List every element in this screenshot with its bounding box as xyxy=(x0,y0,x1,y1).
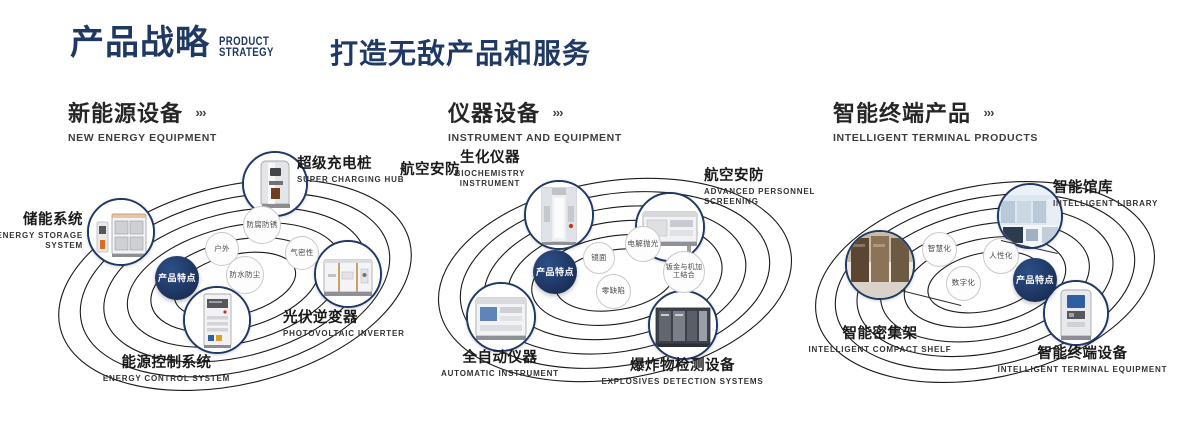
section-heading-new-energy: 新能源设备 ››› NEW ENERGY EQUIPMENT xyxy=(68,96,217,144)
compact-shelf-icon xyxy=(847,232,913,298)
caption-cn: 全自动仪器 xyxy=(415,350,585,367)
feature-bubble-digital[interactable]: 数字化 xyxy=(946,266,981,301)
page-title: 产品战略 PRODUCT STRATEGY xyxy=(70,26,287,60)
caption-en: ENERGY STORAGE SYSTEM xyxy=(0,231,83,251)
caption-explosives-detection-systems: 爆炸物检测设备 EXPLOSIVES DETECTION SYSTEMS xyxy=(600,358,765,387)
section-heading-intelligent-terminal: 智能终端产品 ››› INTELLIGENT TERMINAL PRODUCTS xyxy=(833,96,1038,144)
kiosk-icon xyxy=(1045,282,1107,344)
caption-en: INTELLIGENT TERMINAL EQUIPMENT xyxy=(995,365,1170,375)
section-heading-instrument: 仪器设备 ››› INSTRUMENT AND EQUIPMENT xyxy=(448,96,622,144)
cluster-instrument: 航空安防 生化仪器 BIOCHEMISTRY INSTRUMENT 航空安防 A… xyxy=(420,150,820,410)
feature-bubble-sheetmetal-machining[interactable]: 钣金与机加工结合 xyxy=(663,251,705,293)
feature-bubble-waterproof-dustproof[interactable]: 防水防尘 xyxy=(226,256,264,294)
core-bubble-label: 产品特点 xyxy=(158,273,196,283)
node-photovoltaic-inverter[interactable] xyxy=(314,240,382,308)
caption-en: INTELLIGENT COMPACT SHELF xyxy=(800,345,960,355)
caption-en: INTELLIGENT LIBRARY xyxy=(1053,199,1183,209)
feature-label: 防腐防锈 xyxy=(246,221,277,229)
caption-intelligent-compact-shelf: 智能密集架 INTELLIGENT COMPACT SHELF xyxy=(800,326,960,355)
library-room-icon xyxy=(999,185,1061,247)
section-heading-en: INSTRUMENT AND EQUIPMENT xyxy=(448,132,622,144)
caption-en: AUTOMATIC INSTRUMENT xyxy=(415,369,585,379)
caption-intelligent-terminal-equipment: 智能终端设备 INTELLIGENT TERMINAL EQUIPMENT xyxy=(995,346,1170,375)
caption-photovoltaic-inverter: 光伏逆变器 PHOTOVOLTAIC INVERTER xyxy=(283,310,433,339)
caption-energy-control-system: 能源控制系统 ENERGY CONTROL SYSTEM xyxy=(79,355,254,384)
chevron-right-icon: ››› xyxy=(195,105,205,120)
caption-cn: 生化仪器 xyxy=(430,150,550,167)
feature-label: 智慧化 xyxy=(928,245,951,253)
control-cabinet-icon xyxy=(185,288,249,352)
chevron-right-icon: ››› xyxy=(983,105,993,120)
caption-en: BIOCHEMISTRY INSTRUMENT xyxy=(430,169,550,189)
caption-cn: 智能馆库 xyxy=(1053,180,1183,197)
feature-label: 防水防尘 xyxy=(229,271,260,279)
page-subtitle: 打造无敌产品和服务 xyxy=(330,32,591,72)
feature-bubble-smart[interactable]: 智慧化 xyxy=(922,232,957,267)
caption-en: PHOTOVOLTAIC INVERTER xyxy=(283,329,433,339)
detection-rack-icon xyxy=(650,292,716,358)
section-heading-en: INTELLIGENT TERMINAL PRODUCTS xyxy=(833,132,1038,144)
caption-energy-storage-system: 储能系统 ENERGY STORAGE SYSTEM xyxy=(0,212,83,251)
battery-cabinet-icon xyxy=(89,200,153,264)
node-intelligent-compact-shelf[interactable] xyxy=(845,230,915,300)
feature-label: 钣金与机加工结合 xyxy=(664,264,704,279)
core-bubble-label: 产品特点 xyxy=(536,267,574,277)
core-bubble-label: 产品特点 xyxy=(1016,275,1054,285)
product-strategy-infographic: 产品战略 PRODUCT STRATEGY 打造无敌产品和服务 新能源设备 ››… xyxy=(0,0,1200,422)
core-bubble-product-features[interactable]: 产品特点 xyxy=(533,250,577,294)
feature-label: 户外 xyxy=(214,245,230,253)
core-bubble-product-features[interactable]: 产品特点 xyxy=(155,256,199,300)
feature-bubble-mirror-finish[interactable]: 镜面 xyxy=(583,242,615,274)
analyzer-icon xyxy=(468,284,534,350)
feature-label: 气密性 xyxy=(290,249,313,257)
feature-bubble-airtight[interactable]: 气密性 xyxy=(285,236,319,270)
caption-cn: 能源控制系统 xyxy=(79,355,254,372)
caption-biochemistry-instrument: 生化仪器 BIOCHEMISTRY INSTRUMENT xyxy=(430,150,550,189)
section-heading-cn: 新能源设备 xyxy=(68,96,183,128)
node-energy-storage-system[interactable] xyxy=(87,198,155,266)
feature-label: 数字化 xyxy=(952,279,975,287)
caption-cn: 智能终端设备 xyxy=(995,346,1170,363)
feature-label: 人性化 xyxy=(989,252,1012,260)
cluster-new-energy: 储能系统 ENERGY STORAGE SYSTEM 超级充电桩 SUPER C… xyxy=(35,150,435,410)
feature-bubble-anticorrosion[interactable]: 防腐防锈 xyxy=(243,206,281,244)
feature-label: 电解抛光 xyxy=(627,240,658,248)
section-heading-cn: 仪器设备 xyxy=(448,96,540,128)
caption-en: ENERGY CONTROL SYSTEM xyxy=(79,374,254,384)
security-gate-icon xyxy=(526,182,592,248)
section-heading-en: NEW ENERGY EQUIPMENT xyxy=(68,132,217,144)
node-explosives-detection-systems[interactable] xyxy=(648,290,718,360)
chevron-right-icon: ››› xyxy=(552,105,562,120)
caption-automatic-instrument: 全自动仪器 AUTOMATIC INSTRUMENT xyxy=(415,350,585,379)
caption-cn: 光伏逆变器 xyxy=(283,310,433,327)
caption-cn: 爆炸物检测设备 xyxy=(600,358,765,375)
feature-label: 镜面 xyxy=(591,254,607,262)
caption-cn: 智能密集架 xyxy=(800,326,960,343)
caption-en: EXPLOSIVES DETECTION SYSTEMS xyxy=(600,377,765,387)
inverter-cabinet-icon xyxy=(316,242,380,306)
page-title-en-line2: STRATEGY xyxy=(219,47,274,58)
caption-cn: 储能系统 xyxy=(0,212,83,229)
section-heading-cn: 智能终端产品 xyxy=(833,96,971,128)
page-title-cn: 产品战略 xyxy=(70,26,210,60)
caption-intelligent-library: 智能馆库 INTELLIGENT LIBRARY xyxy=(1053,180,1183,209)
node-automatic-instrument[interactable] xyxy=(466,282,536,352)
feature-bubble-zero-defect[interactable]: 零缺陷 xyxy=(596,274,631,309)
core-bubble-product-features[interactable]: 产品特点 xyxy=(1013,258,1057,302)
cluster-intelligent-terminal: 智能馆库 INTELLIGENT LIBRARY 智能终端设备 INTELLIG… xyxy=(805,150,1200,410)
node-energy-control-system[interactable] xyxy=(183,286,251,354)
node-biochemistry-instrument[interactable] xyxy=(524,180,594,250)
feature-label: 零缺陷 xyxy=(602,287,625,295)
page-title-en: PRODUCT STRATEGY xyxy=(219,36,274,58)
feature-bubble-electropolishing[interactable]: 电解抛光 xyxy=(625,226,661,262)
